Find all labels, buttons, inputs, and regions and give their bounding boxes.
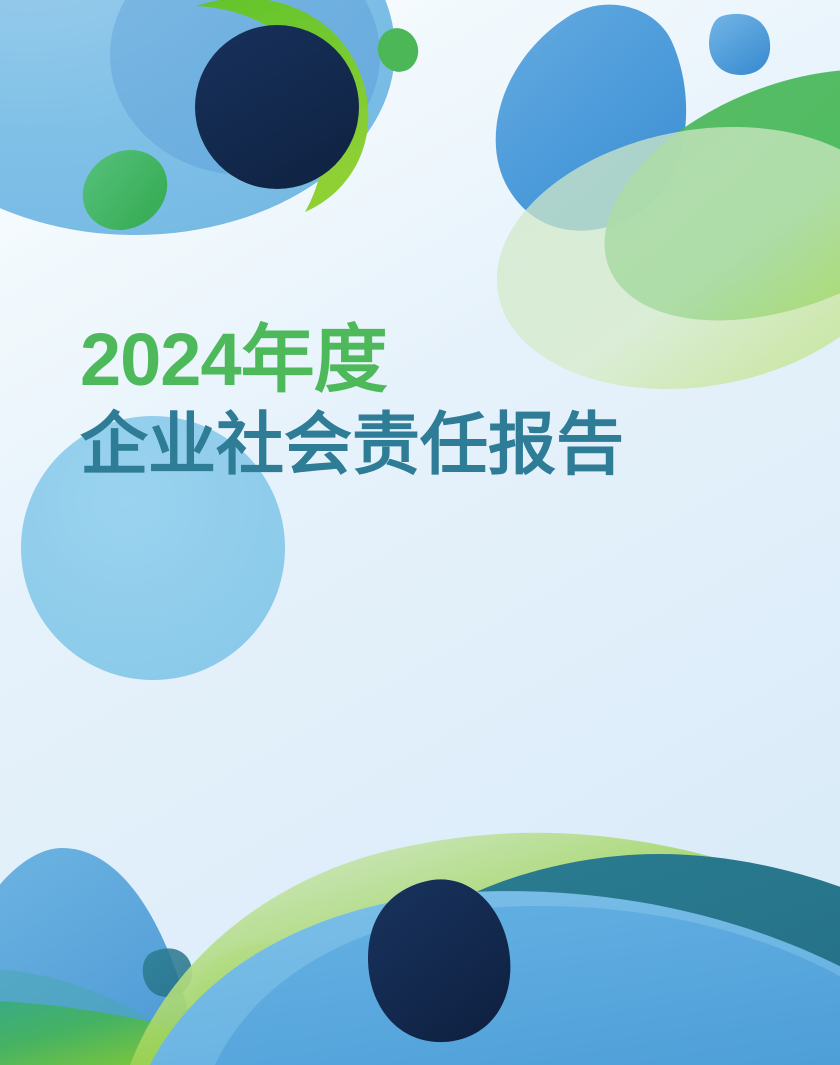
decorative-background (0, 0, 840, 1065)
top-navy-circle (195, 25, 359, 189)
cover-title-block: 2024年度 企业社会责任报告 (80, 322, 780, 484)
cover-title-year: 2024年度 (80, 322, 780, 397)
top-right-small-blue-blob (709, 14, 770, 75)
cover-title-main: 企业社会责任报告 (80, 407, 780, 483)
report-cover-page: 2024年度 企业社会责任报告 (0, 0, 840, 1065)
